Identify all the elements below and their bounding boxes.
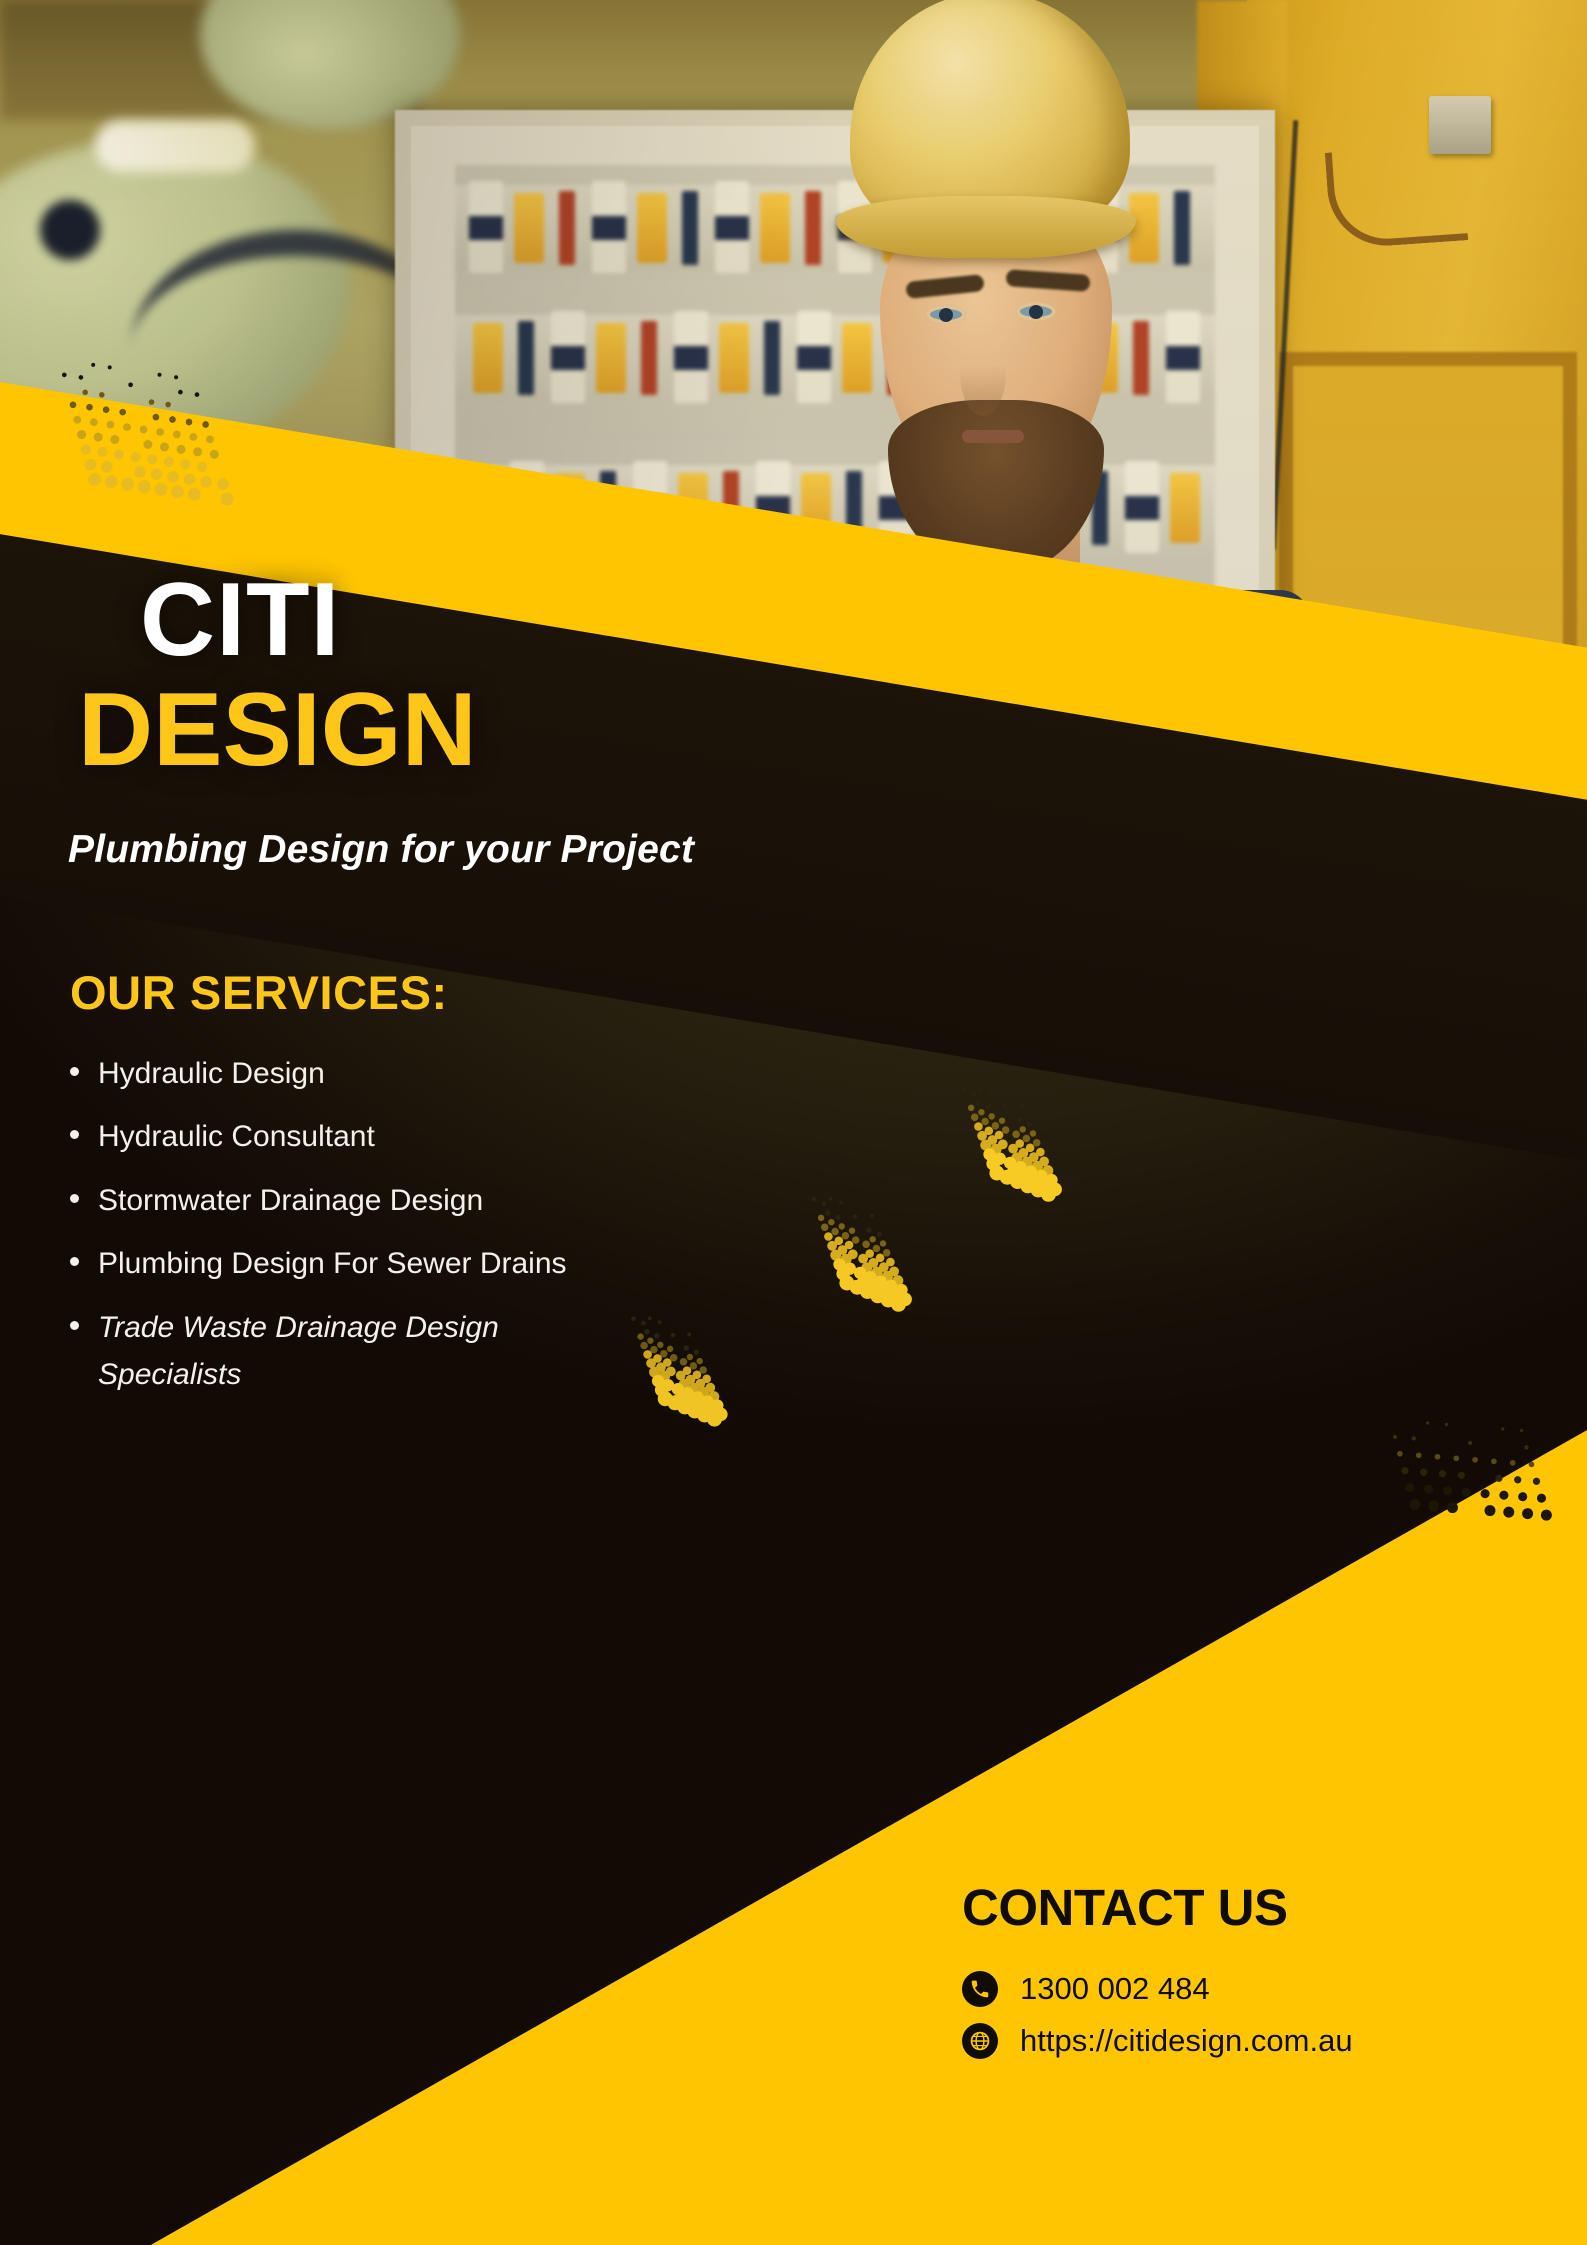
service-item: Hydraulic Design [98,1050,618,1097]
service-item: Plumbing Design For Sewer Drains [98,1240,618,1287]
contact-phone-number: 1300 002 484 [1020,1971,1210,2007]
poster-canvas: CITI DESIGN Plumbing Design for your Pro… [0,0,1587,2245]
contact-phone-row[interactable]: 1300 002 484 [962,1971,1353,2007]
tagline: Plumbing Design for your Project [68,828,694,872]
brand-logo: CITI DESIGN [78,568,477,788]
globe-icon [962,2023,998,2059]
service-item: Hydraulic Consultant [98,1113,618,1160]
service-item: Trade Waste Drainage Design Specialists [98,1304,618,1399]
brand-name-line1: CITI [140,568,477,672]
contact-website-url: https://citidesign.com.au [1020,2023,1353,2059]
contact-block: CONTACT US 1300 002 484 https://citidesi… [962,1878,1353,2075]
brand-name-line2: DESIGN [78,672,477,788]
phone-icon [962,1971,998,2007]
services-list: Hydraulic DesignHydraulic ConsultantStor… [60,1050,618,1414]
contact-heading: CONTACT US [962,1878,1353,1937]
service-item: Stormwater Drainage Design [98,1177,618,1224]
contact-website-row[interactable]: https://citidesign.com.au [962,2023,1353,2059]
services-heading: OUR SERVICES: [70,965,448,1020]
